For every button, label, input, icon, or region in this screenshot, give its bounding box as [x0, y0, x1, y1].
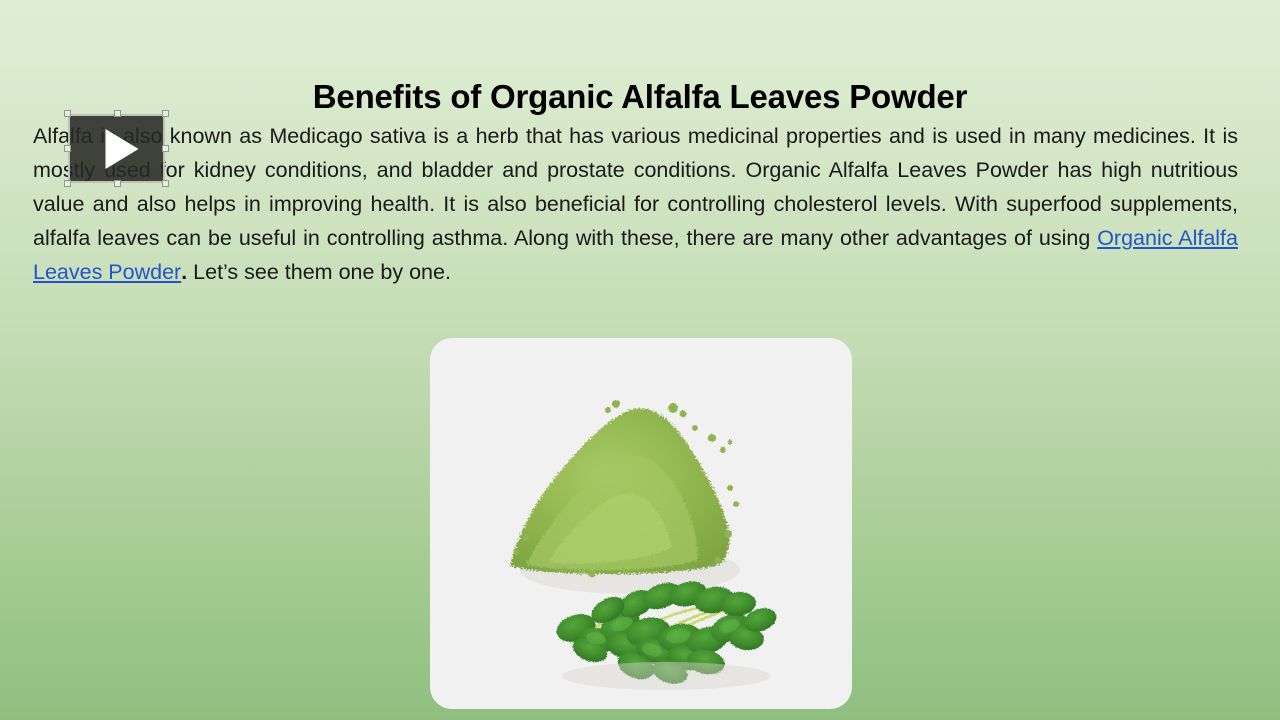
- selection-handle-top-right[interactable]: [162, 110, 169, 117]
- selection-handle-middle-right[interactable]: [162, 145, 169, 152]
- selection-handle-top-left[interactable]: [64, 110, 71, 117]
- video-placeholder[interactable]: [68, 114, 165, 183]
- play-triangle-icon[interactable]: [105, 129, 138, 169]
- page-title: Benefits of Organic Alfalfa Leaves Powde…: [0, 79, 1280, 115]
- selection-handle-middle-left[interactable]: [64, 145, 71, 152]
- body-text-segment-2: Let’s see them one by one.: [187, 260, 451, 284]
- selection-handle-top-middle[interactable]: [114, 110, 121, 117]
- selection-handle-bottom-left[interactable]: [64, 180, 71, 187]
- body-text-segment-1: Alfalfa is also known as Medicago sativa…: [33, 124, 1238, 250]
- product-image-card: [430, 338, 852, 709]
- selection-handle-bottom-middle[interactable]: [114, 180, 121, 187]
- selection-handle-bottom-right[interactable]: [162, 180, 169, 187]
- body-paragraph: Alfalfa is also known as Medicago sativa…: [33, 119, 1238, 289]
- presentation-slide: Benefits of Organic Alfalfa Leaves Powde…: [0, 0, 1280, 720]
- video-frame[interactable]: [68, 114, 165, 183]
- alfalfa-powder-image: [430, 338, 852, 709]
